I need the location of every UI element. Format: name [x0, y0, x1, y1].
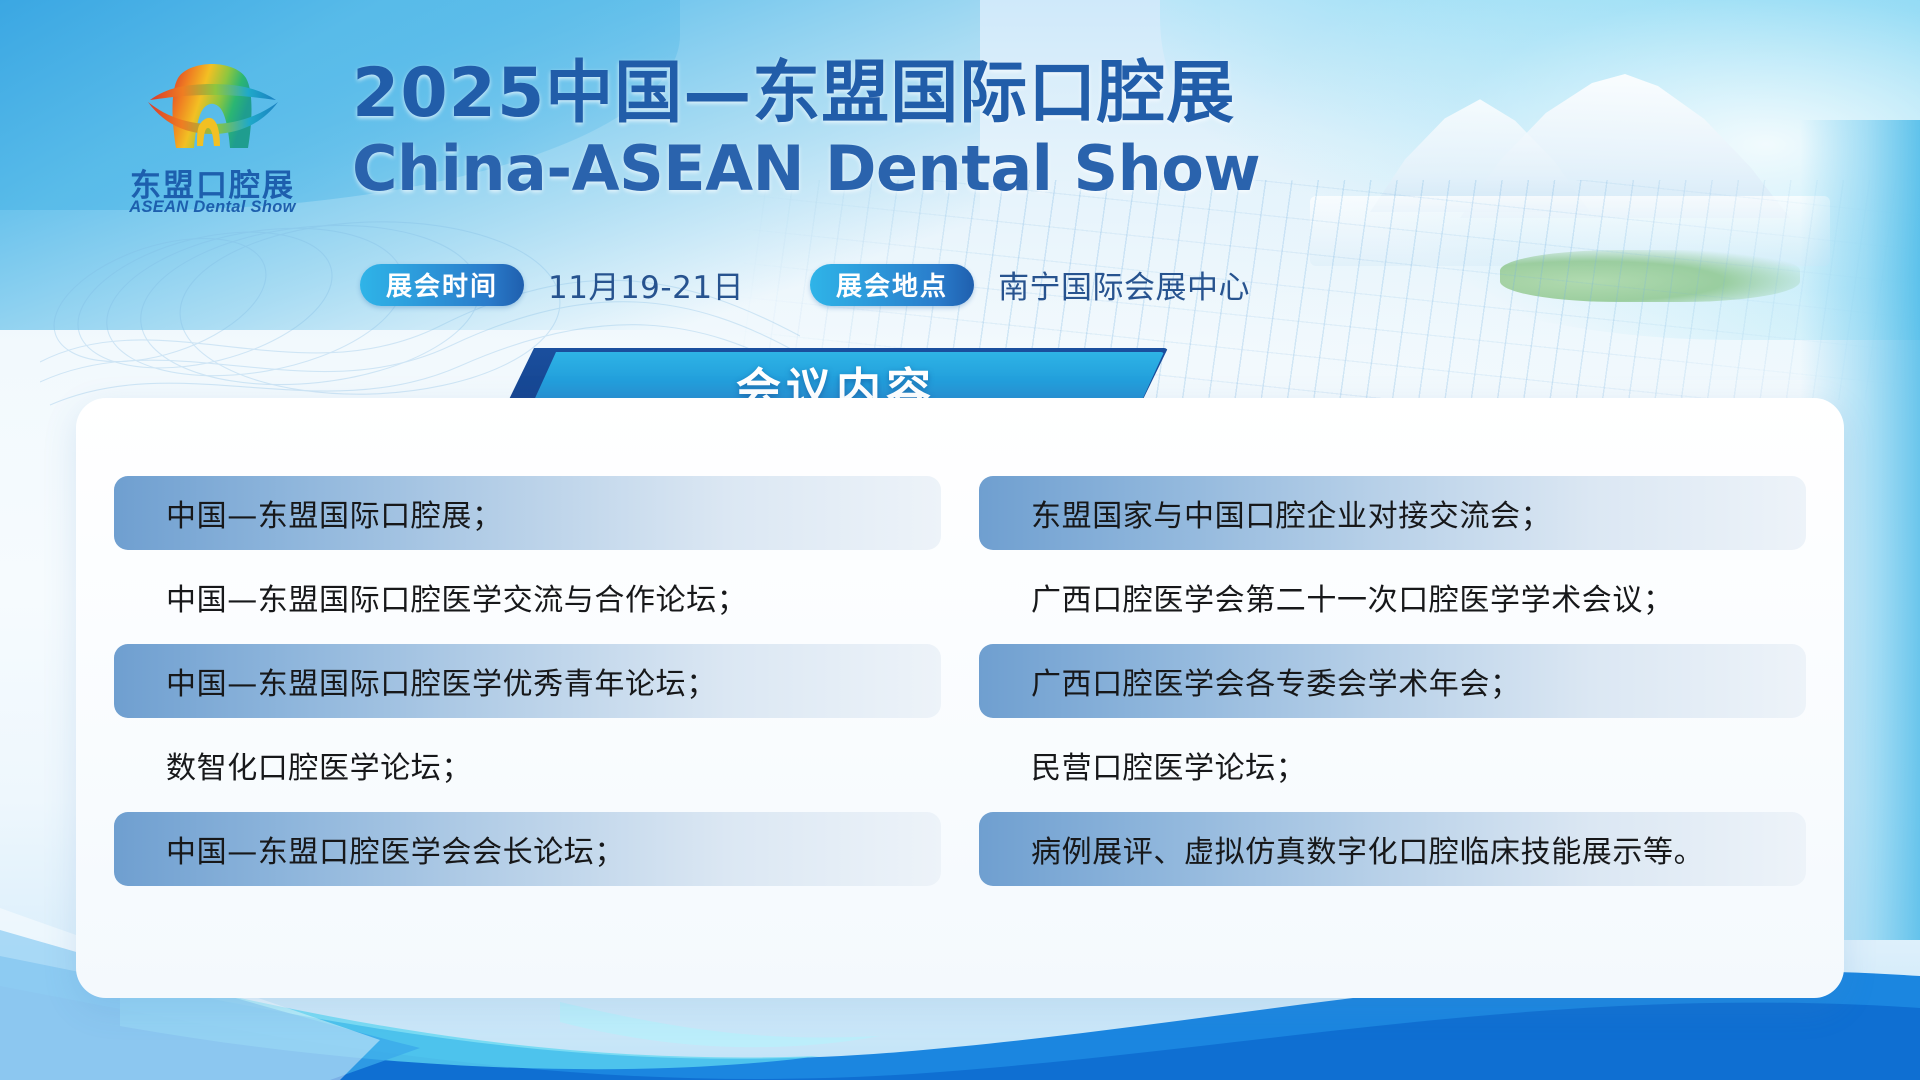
page-title-english: China-ASEAN Dental Show — [352, 134, 1260, 204]
list-item[interactable]: 中国—东盟口腔医学会会长论坛； — [114, 812, 941, 886]
list-item[interactable]: 病例展评、虚拟仿真数字化口腔临床技能展示等。 — [979, 812, 1806, 886]
event-logo: 东盟口腔展 ASEAN Dental Show — [110, 62, 315, 222]
logo-english-name: ASEAN Dental Show — [110, 198, 315, 217]
conference-content-columns: 中国—东盟国际口腔展； 中国—东盟国际口腔医学交流与合作论坛； 中国—东盟国际口… — [114, 476, 1806, 886]
row-spacer — [114, 634, 941, 644]
event-meta-row: 展会时间 11月19-21日 展会地点 南宁国际会展中心 — [360, 262, 1250, 307]
row-spacer — [979, 718, 1806, 728]
conference-list-left: 中国—东盟国际口腔展； 中国—东盟国际口腔医学交流与合作论坛； 中国—东盟国际口… — [114, 476, 941, 886]
list-item[interactable]: 中国—东盟国际口腔医学优秀青年论坛； — [114, 644, 941, 718]
list-item[interactable]: 东盟国家与中国口腔企业对接交流会； — [979, 476, 1806, 550]
list-item[interactable]: 民营口腔医学论坛； — [979, 728, 1806, 802]
badge-event-date-label: 展会时间 — [360, 264, 524, 306]
list-item[interactable]: 中国—东盟国际口腔展； — [114, 476, 941, 550]
list-item[interactable]: 广西口腔医学会各专委会学术年会； — [979, 644, 1806, 718]
poster-header: 东盟口腔展 ASEAN Dental Show 2025中国—东盟国际口腔展 C… — [0, 0, 1340, 300]
title-block: 2025中国—东盟国际口腔展 China-ASEAN Dental Show — [352, 56, 1260, 204]
badge-event-venue-label: 展会地点 — [810, 264, 974, 306]
list-item[interactable]: 中国—东盟国际口腔医学交流与合作论坛； — [114, 560, 941, 634]
list-item[interactable]: 广西口腔医学会第二十一次口腔医学学术会议； — [979, 560, 1806, 634]
tooth-arch-gradient-icon — [138, 62, 288, 162]
page-title-chinese: 2025中国—东盟国际口腔展 — [352, 56, 1260, 132]
row-spacer — [979, 634, 1806, 644]
list-item[interactable]: 数智化口腔医学论坛； — [114, 728, 941, 802]
row-spacer — [114, 718, 941, 728]
row-spacer — [114, 802, 941, 812]
poster-canvas: 东盟口腔展 ASEAN Dental Show 2025中国—东盟国际口腔展 C… — [0, 0, 1920, 1080]
conference-list-right: 东盟国家与中国口腔企业对接交流会； 广西口腔医学会第二十一次口腔医学学术会议； … — [979, 476, 1806, 886]
event-venue-value: 南宁国际会展中心 — [998, 262, 1250, 307]
row-spacer — [979, 550, 1806, 560]
event-date-value: 11月19-21日 — [548, 262, 744, 307]
row-spacer — [979, 802, 1806, 812]
row-spacer — [114, 550, 941, 560]
conference-content-card: 中国—东盟国际口腔展； 中国—东盟国际口腔医学交流与合作论坛； 中国—东盟国际口… — [76, 398, 1844, 998]
